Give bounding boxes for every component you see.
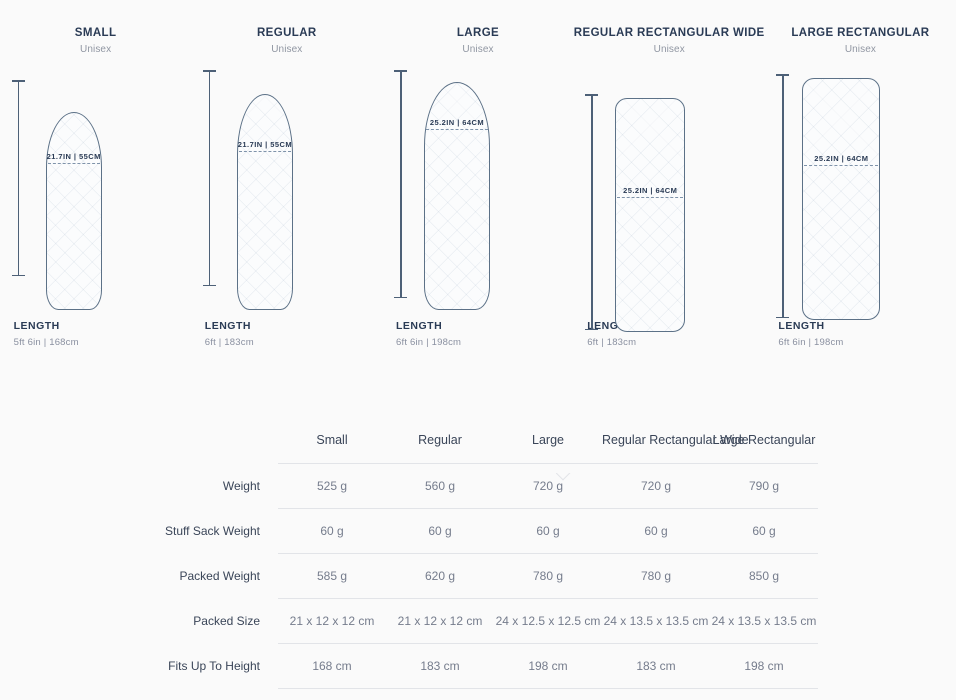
corner-cell xyxy=(138,418,278,463)
table-cell: 720 g xyxy=(494,463,602,508)
table-cell: 60 g xyxy=(386,508,494,553)
size-subtitle: Unisex xyxy=(462,44,493,56)
table-cell: 850 g xyxy=(710,553,818,598)
table-cell: 183 cm xyxy=(386,643,494,688)
table-cell: 24 x 13.5 x 13.5 cm xyxy=(710,598,818,643)
size-illustration: 21.7IN | 55CM xyxy=(197,70,377,310)
spec-table: SmallRegularLargeRegular Rectangular Wid… xyxy=(138,418,818,689)
size-subtitle: Unisex xyxy=(654,44,685,56)
table-row: Weight525 g560 g720 g720 g790 g xyxy=(138,463,818,508)
width-label: 25.2IN | 64CM xyxy=(803,154,879,163)
table-cell: 790 g xyxy=(710,463,818,508)
length-label: LENGTH xyxy=(396,320,568,333)
size-illustration: 25.2IN | 64CM xyxy=(388,70,568,310)
length-ruler xyxy=(203,70,216,286)
table-cell: 780 g xyxy=(602,553,710,598)
ruler-cap-bottom xyxy=(776,317,789,319)
table-cell: 620 g xyxy=(386,553,494,598)
size-subtitle: Unisex xyxy=(271,44,302,56)
table-cell: 585 g xyxy=(278,553,386,598)
ruler-shaft xyxy=(591,94,593,330)
length-value: 6ft 6in | 198cm xyxy=(396,337,568,349)
size-diagrams: SMALLUnisex21.7IN | 55CMLENGTH5ft 6in | … xyxy=(0,0,956,349)
column-header: Small xyxy=(278,418,386,463)
table-row: Fits Up To Height168 cm183 cm198 cm183 c… xyxy=(138,643,818,688)
size-column-small: SMALLUnisex21.7IN | 55CMLENGTH5ft 6in | … xyxy=(0,26,191,349)
size-column-large-rectangular: LARGE RECTANGULARUnisex25.2IN | 64CMLENG… xyxy=(765,26,956,349)
table-cell: 198 cm xyxy=(710,643,818,688)
size-title: LARGE RECTANGULAR xyxy=(791,26,929,40)
ruler-cap-bottom xyxy=(394,297,407,299)
ruler-shaft xyxy=(209,70,211,286)
length-block: LENGTH6ft 6in | 198cm xyxy=(388,320,568,349)
size-title: LARGE xyxy=(457,26,499,40)
width-dashed-line xyxy=(804,165,878,166)
size-column-regular-rectangular-wide: REGULAR RECTANGULAR WIDEUnisex25.2IN | 6… xyxy=(574,26,765,349)
length-label: LENGTH xyxy=(14,320,186,333)
row-label: Packed Weight xyxy=(138,553,278,598)
length-ruler xyxy=(394,70,407,298)
length-label: LENGTH xyxy=(778,320,950,333)
size-title: REGULAR RECTANGULAR WIDE xyxy=(574,26,765,40)
size-column-large: LARGEUnisex25.2IN | 64CMLENGTH6ft 6in | … xyxy=(382,26,573,349)
size-column-regular: REGULARUnisex21.7IN | 55CMLENGTH6ft | 18… xyxy=(191,26,382,349)
size-guide-page: SMALLUnisex21.7IN | 55CMLENGTH5ft 6in | … xyxy=(0,0,956,700)
spec-table-head: SmallRegularLargeRegular Rectangular Wid… xyxy=(138,418,818,463)
table-cell: 24 x 13.5 x 13.5 cm xyxy=(602,598,710,643)
length-value: 6ft 6in | 198cm xyxy=(778,337,950,349)
bag-shape: 25.2IN | 64CM xyxy=(424,82,490,310)
width-label: 21.7IN | 55CM xyxy=(238,140,292,149)
width-dashed-line xyxy=(48,163,100,164)
table-row: Stuff Sack Weight60 g60 g60 g60 g60 g xyxy=(138,508,818,553)
spec-table-header-row: SmallRegularLargeRegular Rectangular Wid… xyxy=(138,418,818,463)
table-cell: 720 g xyxy=(602,463,710,508)
size-title: SMALL xyxy=(75,26,117,40)
table-cell: 183 cm xyxy=(602,643,710,688)
table-cell: 168 cm xyxy=(278,643,386,688)
length-value: 6ft | 183cm xyxy=(205,337,377,349)
bag-shape: 25.2IN | 64CM xyxy=(615,98,685,332)
length-value: 5ft 6in | 168cm xyxy=(14,337,186,349)
length-ruler xyxy=(12,80,25,276)
length-block: LENGTH6ft 6in | 198cm xyxy=(770,320,950,349)
table-row: Packed Weight585 g620 g780 g780 g850 g xyxy=(138,553,818,598)
width-dashed-line xyxy=(426,129,488,130)
ruler-shaft xyxy=(18,80,20,276)
length-ruler xyxy=(585,94,598,330)
spec-table-container: SmallRegularLargeRegular Rectangular Wid… xyxy=(0,418,956,689)
table-cell: 60 g xyxy=(494,508,602,553)
spec-table-body: Weight525 g560 g720 g720 g790 gStuff Sac… xyxy=(138,463,818,688)
size-illustration: 25.2IN | 64CM xyxy=(579,70,759,310)
width-label: 21.7IN | 55CM xyxy=(47,152,101,161)
ruler-cap-bottom xyxy=(585,329,598,331)
column-header: Large xyxy=(494,418,602,463)
bag-shape: 21.7IN | 55CM xyxy=(237,94,293,310)
width-label: 25.2IN | 64CM xyxy=(425,118,489,127)
table-cell: 21 x 12 x 12 cm xyxy=(386,598,494,643)
width-label: 25.2IN | 64CM xyxy=(616,186,684,195)
bag-shape: 25.2IN | 64CM xyxy=(802,78,880,320)
row-label: Fits Up To Height xyxy=(138,643,278,688)
row-label: Packed Size xyxy=(138,598,278,643)
column-header: Large Rectangular xyxy=(710,418,818,463)
ruler-cap-bottom xyxy=(12,275,25,277)
table-cell: 60 g xyxy=(710,508,818,553)
length-value: 6ft | 183cm xyxy=(587,337,759,349)
width-dashed-line xyxy=(239,151,291,152)
table-cell: 21 x 12 x 12 cm xyxy=(278,598,386,643)
table-cell: 60 g xyxy=(278,508,386,553)
size-illustration: 25.2IN | 64CM xyxy=(770,70,950,310)
table-cell: 780 g xyxy=(494,553,602,598)
column-header: Regular Rectangular Wide xyxy=(602,418,710,463)
length-block: LENGTH5ft 6in | 168cm xyxy=(6,320,186,349)
table-row: Packed Size21 x 12 x 12 cm21 x 12 x 12 c… xyxy=(138,598,818,643)
table-cell: 60 g xyxy=(602,508,710,553)
row-label: Weight xyxy=(138,463,278,508)
bag-shape: 21.7IN | 55CM xyxy=(46,112,102,310)
table-cell: 24 x 12.5 x 12.5 cm xyxy=(494,598,602,643)
large-column-notch xyxy=(556,473,572,482)
ruler-cap-bottom xyxy=(203,285,216,287)
table-cell: 525 g xyxy=(278,463,386,508)
row-label: Stuff Sack Weight xyxy=(138,508,278,553)
table-cell: 198 cm xyxy=(494,643,602,688)
size-subtitle: Unisex xyxy=(845,44,876,56)
ruler-shaft xyxy=(782,74,784,318)
length-ruler xyxy=(776,74,789,318)
length-block: LENGTH6ft | 183cm xyxy=(197,320,377,349)
ruler-shaft xyxy=(400,70,402,298)
width-dashed-line xyxy=(617,197,683,198)
size-subtitle: Unisex xyxy=(80,44,111,56)
table-cell: 560 g xyxy=(386,463,494,508)
size-title: REGULAR xyxy=(257,26,317,40)
column-header: Regular xyxy=(386,418,494,463)
length-label: LENGTH xyxy=(205,320,377,333)
size-illustration: 21.7IN | 55CM xyxy=(6,70,186,310)
